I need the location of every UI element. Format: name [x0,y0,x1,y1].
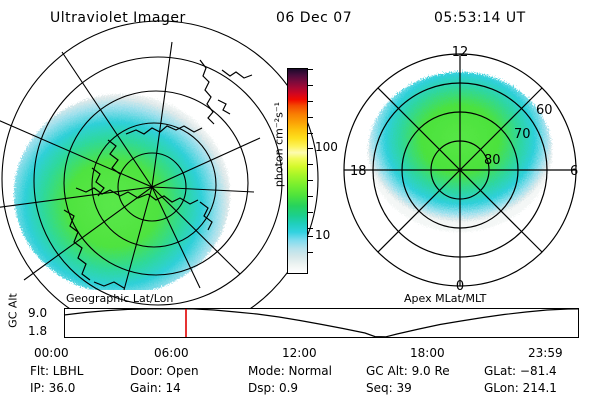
header-bar: Ultraviolet Imager 06 Dec 07 05:53:14 UT [0,6,600,30]
colorbar-label-100: 100 [315,141,338,153]
colorbar-tick [307,180,313,181]
colorbar-tick [307,133,313,134]
altitude-max-tick: 9.0 [28,306,47,320]
status-footer: Flt: LBHL Door: Open Mode: Normal GC Alt… [0,364,600,398]
altitude-min-tick: 1.8 [28,324,47,338]
mlt-dial-plot[interactable]: 12 6 0 18 60 70 80 [336,42,584,290]
status-row-1: Flt: LBHL Door: Open Mode: Normal GC Alt… [0,364,600,380]
mlt-spokes [344,54,576,286]
status-glat: GLat: −81.4 [484,364,557,378]
xtick-2359: 23:59 [528,346,563,360]
status-gc-alt: GC Alt: 9.0 Re [366,364,450,378]
colorbar-tick [307,117,313,118]
colorbar-tick [307,196,313,197]
status-ip: IP: 36.0 [30,381,75,395]
altitude-axis-label: GC Alt [7,281,20,341]
status-filter: Flt: LBHL [30,364,83,378]
colorbar-tick [307,164,313,165]
mlt-label-18: 18 [350,164,367,179]
mlt-label-12: 12 [452,45,469,60]
status-glon: GLon: 214.1 [484,381,557,395]
mlat-label-60: 60 [536,103,553,118]
altitude-chart[interactable] [64,308,579,338]
xtick-0000: 00:00 [34,346,69,360]
mlt-plot-caption: Apex MLat/MLT [404,292,486,305]
colorbar-tick [307,252,313,253]
colorbar-tick [307,228,313,229]
colorbar-tick [307,212,313,213]
colorbar-gradient [287,68,308,274]
mlat-label-70: 70 [514,127,531,142]
status-gain: Gain: 14 [130,381,181,395]
colorbar-tick [307,69,313,70]
header-date: 06 Dec 07 [276,10,352,26]
status-mode: Mode: Normal [248,364,332,378]
page-title: Ultraviolet Imager [50,10,186,26]
status-door: Door: Open [130,364,199,378]
status-dsp: Dsp: 0.9 [248,381,298,395]
colorbar-tick [307,101,313,102]
colorbar-tick [307,85,313,86]
xtick-0600: 06:00 [154,346,189,360]
mlt-label-6: 6 [570,164,578,179]
colorbar-axis-label: photon cm⁻²s⁻¹ [273,70,286,220]
status-seq: Seq: 39 [366,381,412,395]
xtick-1800: 18:00 [410,346,445,360]
status-row-2: IP: 36.0 Gain: 14 Dsp: 0.9 Seq: 39 GLon:… [0,381,600,397]
geo-plot-caption: Geographic Lat/Lon [66,292,173,305]
geographic-plot[interactable] [4,42,260,290]
colorbar: photon cm⁻²s⁻¹ 100 10 [262,60,334,290]
altitude-panel[interactable]: Geographic Lat/Lon Apex MLat/MLT GC Alt … [0,292,600,352]
header-time: 05:53:14 UT [434,10,526,26]
mlat-label-80: 80 [484,153,501,168]
colorbar-tick-major [307,148,313,149]
time-axis: 00:00 06:00 12:00 18:00 23:59 [0,346,600,362]
colorbar-label-10: 10 [315,229,330,241]
xtick-1200: 12:00 [282,346,317,360]
colorbar-tick-major [307,236,313,237]
